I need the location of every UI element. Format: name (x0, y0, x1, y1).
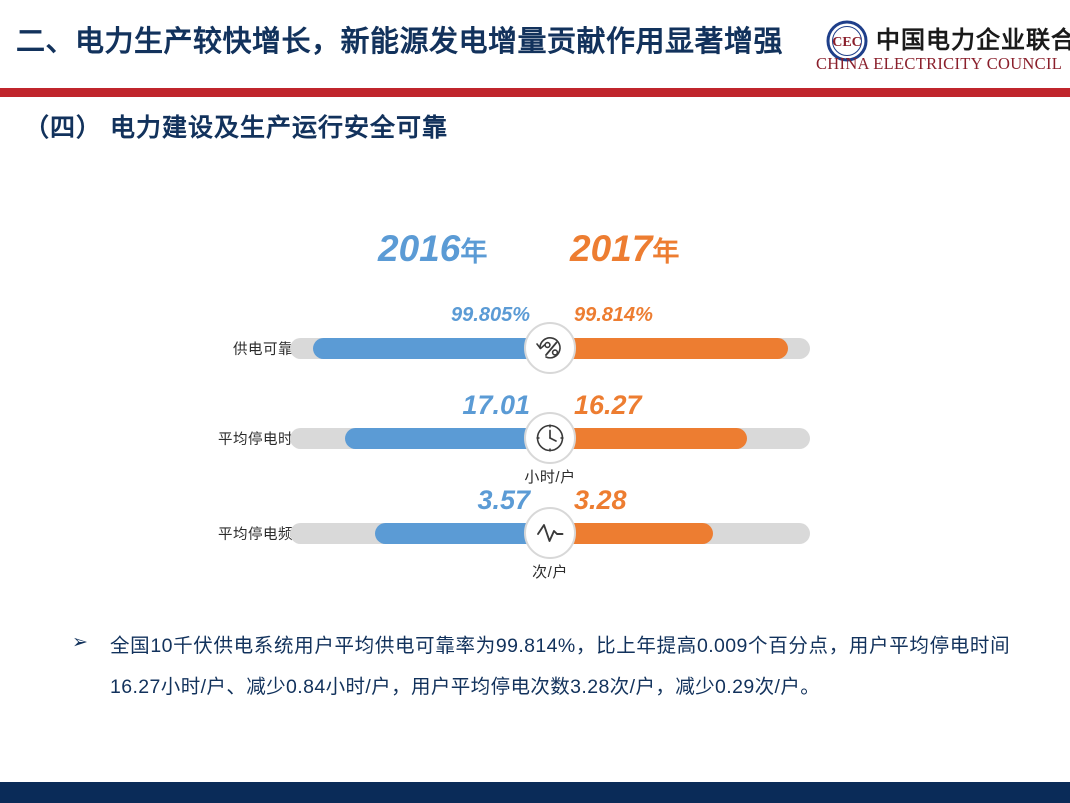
chart-row-average-outage-frequency: 平均停电频率 3.57 3.28 次/户 (0, 485, 1070, 580)
legend-suffix-2017: 年 (652, 237, 679, 267)
legend-label-2016: 2016 (378, 228, 460, 269)
legend-item-2017: 2017年 (570, 228, 679, 270)
bar-2017 (550, 338, 788, 359)
chart-row-average-outage-time: 平均停电时间 17.01 16.27 小时/户 (0, 390, 1070, 485)
reliability-chart: 供电可靠性 99.805% 99.814% 平均停电时间 17.01 16.27 (0, 300, 1070, 600)
pulse-icon (524, 507, 576, 559)
bar-2016 (345, 428, 550, 449)
bullet-text: 全国10千伏供电系统用户平均供电可靠率为99.814%，比上年提高0.009个百… (110, 626, 1010, 708)
legend-suffix-2016: 年 (460, 237, 487, 267)
chart-row-supply-reliability: 供电可靠性 99.805% 99.814% (0, 300, 1070, 395)
slide-header: 二、电力生产较快增长，新能源发电增量贡献作用显著增强 CEC 中国电力企业联合会… (0, 0, 1070, 88)
row-unit: 次/户 (470, 561, 630, 582)
value-label-2017: 16.27 (574, 390, 771, 421)
value-label-2016: 3.57 (355, 485, 530, 516)
bar-2016 (313, 338, 550, 359)
bullet-arrow-icon: ➢ (72, 631, 88, 654)
logo-chinese-name: 中国电力企业联合会 (876, 20, 1070, 55)
value-label-2016: 17.01 (325, 390, 530, 421)
svg-text:CEC: CEC (832, 35, 862, 50)
row-unit: 小时/户 (470, 466, 630, 487)
chart-legend: 2016年 2017年 (370, 228, 750, 280)
value-label-2017: 3.28 (574, 485, 737, 516)
header-divider-rule (0, 88, 1070, 97)
legend-label-2017: 2017 (570, 228, 652, 269)
percent-refresh-icon (524, 322, 576, 374)
bar-2017 (550, 428, 747, 449)
legend-item-2016: 2016年 (378, 228, 487, 270)
clock-icon (524, 412, 576, 464)
footer-bar (0, 782, 1070, 803)
value-label-2016: 99.805% (293, 304, 530, 327)
page-title: 二、电力生产较快增长，新能源发电增量贡献作用显著增强 (16, 20, 816, 64)
section-title: （四） 电力建设及生产运行安全可靠 (24, 108, 448, 144)
value-label-2017: 99.814% (574, 304, 812, 327)
logo-english-name: CHINA ELECTRICITY COUNCIL (816, 54, 1062, 74)
organization-logo: CEC 中国电力企业联合会 CHINA ELECTRICITY COUNCIL (814, 18, 1062, 80)
